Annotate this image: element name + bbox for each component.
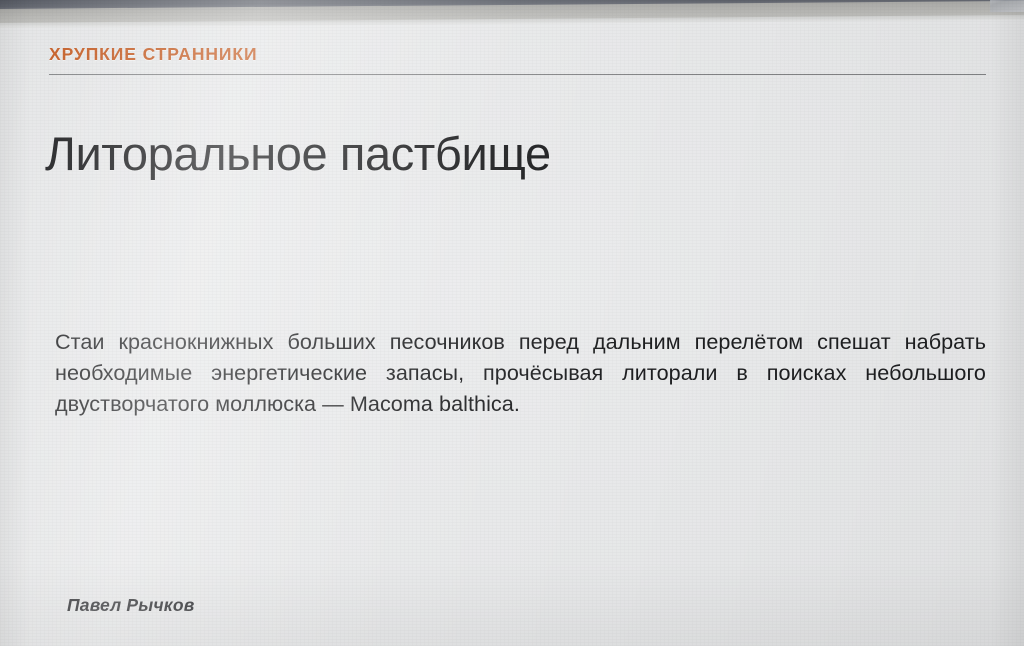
author-byline: Павел Рычков	[67, 595, 195, 616]
body-paragraph: Стаи краснокнижных больших песочников пе…	[55, 326, 986, 419]
exhibit-panel-photo: ХРУПКИЕ СТРАННИКИ Литоральное пастбище С…	[0, 0, 1024, 646]
panel-content: ХРУПКИЕ СТРАННИКИ Литоральное пастбище С…	[0, 0, 1024, 646]
page-title: Литоральное пастбище	[45, 126, 551, 181]
section-eyebrow: ХРУПКИЕ СТРАННИКИ	[49, 44, 257, 65]
header-divider-rule	[49, 74, 986, 75]
